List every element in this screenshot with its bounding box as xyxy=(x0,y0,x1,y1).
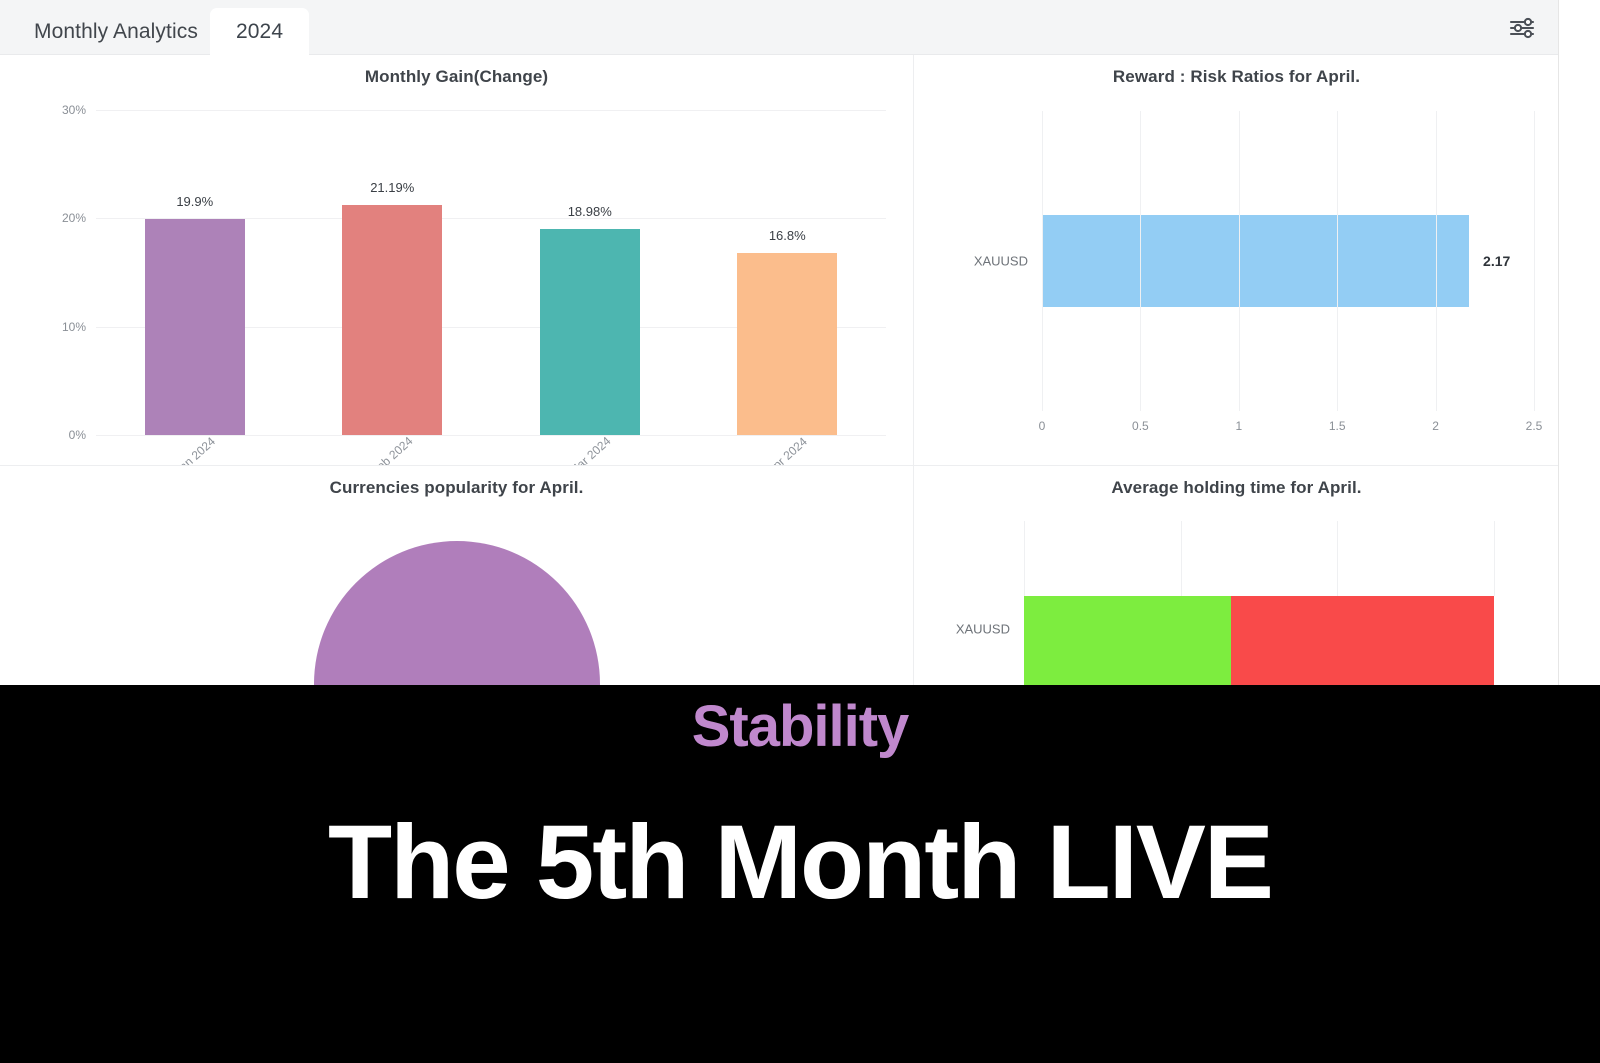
x-axis-tick-label: 2 xyxy=(1432,419,1439,433)
overlay-kicker-text: Stability xyxy=(0,693,1600,760)
hbar-category-label: XAUUSD xyxy=(974,254,1028,269)
x-axis-tick-label: Apr 2024 xyxy=(764,435,810,466)
hbar-value-label: 2.17 xyxy=(1483,253,1510,269)
app-window: Monthly Analytics 2024 Monthly Gain(Chan… xyxy=(0,0,1559,686)
gridline xyxy=(1494,521,1495,596)
gridline xyxy=(1337,111,1338,411)
pie-slice-xauusd[interactable] xyxy=(314,541,600,686)
gridline xyxy=(1239,111,1240,411)
holding-time-plot: XAUUSD xyxy=(1024,521,1494,681)
bar[interactable] xyxy=(540,229,640,435)
overlay-headline-text: The 5th Month LIVE xyxy=(0,803,1600,923)
x-axis-tick-label: 0.5 xyxy=(1132,419,1149,433)
bar-value-label: 18.98% xyxy=(568,204,612,219)
settings-button[interactable] xyxy=(1503,10,1541,46)
bar-group: 18.98%Mar 2024 xyxy=(491,110,689,435)
x-axis-tick-label: 1.5 xyxy=(1329,419,1346,433)
gridline xyxy=(1181,521,1182,596)
gridline xyxy=(96,435,886,436)
bar-value-label: 16.8% xyxy=(769,228,806,243)
y-axis-tick-label: 10% xyxy=(62,320,86,334)
gridline xyxy=(1024,521,1025,596)
x-axis-tick-label: Feb 2024 xyxy=(369,434,416,466)
panel-monthly-gain: Monthly Gain(Change) 0%10%20%30%19.9%Jan… xyxy=(0,55,914,466)
gridline xyxy=(1436,111,1437,411)
video-overlay-banner: Stability The 5th Month LIVE xyxy=(0,685,1600,1063)
panel-title-holding-time: Average holding time for April. xyxy=(914,478,1559,498)
bar[interactable] xyxy=(342,205,442,435)
y-axis-tick-label: 30% xyxy=(62,103,86,117)
tab-label: Monthly Analytics xyxy=(34,20,198,44)
bar-group: 16.8%Apr 2024 xyxy=(689,110,887,435)
gridline xyxy=(1042,111,1043,411)
sliders-icon xyxy=(1507,14,1537,42)
tab-label: 2024 xyxy=(236,20,283,44)
bar[interactable] xyxy=(737,253,837,435)
stack-category-label: XAUUSD xyxy=(956,622,1010,637)
panel-reward-risk: Reward : Risk Ratios for April. XAUUSD 2… xyxy=(914,55,1559,466)
y-axis-tick-label: 0% xyxy=(69,428,86,442)
panel-title-monthly-gain: Monthly Gain(Change) xyxy=(0,67,913,87)
x-axis-tick-label: 0 xyxy=(1039,419,1046,433)
gridline xyxy=(1534,111,1535,411)
stacked-bar-segment-green[interactable] xyxy=(1024,596,1231,686)
hbar-xauusd[interactable] xyxy=(1042,215,1469,307)
currencies-pie-plot xyxy=(314,541,600,686)
panel-title-reward-risk: Reward : Risk Ratios for April. xyxy=(914,67,1559,87)
y-axis-tick-label: 20% xyxy=(62,211,86,225)
x-axis-tick-label: Mar 2024 xyxy=(566,434,613,466)
reward-risk-plot: XAUUSD 2.17 00.511.522.5 xyxy=(1042,111,1534,411)
x-axis-tick-label: 1 xyxy=(1235,419,1242,433)
panel-holding-time: Average holding time for April. XAUUSD xyxy=(914,466,1559,686)
gridline xyxy=(1140,111,1141,411)
tab-monthly-analytics[interactable]: Monthly Analytics xyxy=(12,8,220,55)
monthly-gain-plot: 0%10%20%30%19.9%Jan 202421.19%Feb 202418… xyxy=(96,110,886,435)
panel-currencies: Currencies popularity for April. xyxy=(0,466,914,686)
stacked-bar-segment-red[interactable] xyxy=(1231,596,1494,686)
bar[interactable] xyxy=(145,219,245,435)
bar-value-label: 19.9% xyxy=(176,194,213,209)
panel-title-currencies: Currencies popularity for April. xyxy=(0,478,913,498)
tab-bar: Monthly Analytics 2024 xyxy=(0,0,1559,55)
x-axis-tick-label: 2.5 xyxy=(1526,419,1543,433)
bar-group: 19.9%Jan 2024 xyxy=(96,110,294,435)
x-axis-tick-label: Jan 2024 xyxy=(172,434,218,466)
gridline xyxy=(1337,521,1338,596)
tab-2024[interactable]: 2024 xyxy=(210,8,309,55)
bar-value-label: 21.19% xyxy=(370,180,414,195)
bar-group: 21.19%Feb 2024 xyxy=(294,110,492,435)
stacked-bar-xauusd[interactable] xyxy=(1024,596,1494,686)
